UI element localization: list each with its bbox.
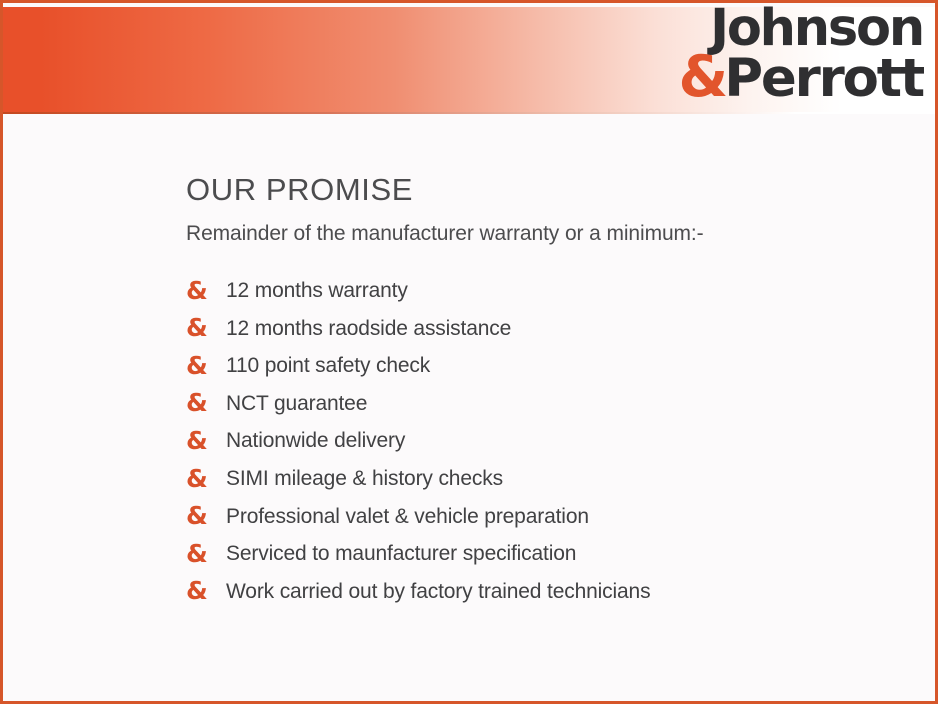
promise-list: & 12 months warranty & 12 months raodsid… xyxy=(186,272,906,610)
logo-text-perrott: Perrott xyxy=(724,48,923,109)
ampersand-bullet-icon: & xyxy=(186,353,226,378)
logo-ampersand-icon: & xyxy=(679,44,725,110)
page-subtitle: Remainder of the manufacturer warranty o… xyxy=(186,221,906,246)
ampersand-bullet-icon: & xyxy=(186,428,226,453)
ampersand-bullet-icon: & xyxy=(186,541,226,566)
list-item: & 110 point safety check xyxy=(186,347,906,385)
list-item: & NCT guarantee xyxy=(186,385,906,423)
ampersand-bullet-icon: & xyxy=(186,578,226,603)
list-item: & Nationwide delivery xyxy=(186,423,906,461)
promise-page: Johnson &Perrott OUR PROMISE Remainder o… xyxy=(0,0,938,704)
johnson-perrott-logo[interactable]: Johnson &Perrott xyxy=(679,7,923,103)
ampersand-bullet-icon: & xyxy=(186,503,226,528)
list-item-label: SIMI mileage & history checks xyxy=(226,467,503,491)
list-item: & SIMI mileage & history checks xyxy=(186,460,906,498)
list-item: & Work carried out by factory trained te… xyxy=(186,573,906,611)
page-title: OUR PROMISE xyxy=(186,173,906,207)
logo-text-perrott-line: &Perrott xyxy=(679,52,923,103)
ampersand-bullet-icon: & xyxy=(186,278,226,303)
list-item-label: NCT guarantee xyxy=(226,392,367,416)
list-item: & Serviced to maunfacturer specification xyxy=(186,535,906,573)
list-item-label: Professional valet & vehicle preparation xyxy=(226,505,589,529)
ampersand-bullet-icon: & xyxy=(186,466,226,491)
list-item-label: 12 months warranty xyxy=(226,279,408,303)
list-item-label: Nationwide delivery xyxy=(226,429,405,453)
list-item-label: Serviced to maunfacturer specification xyxy=(226,542,576,566)
ampersand-bullet-icon: & xyxy=(186,390,226,415)
list-item: & Professional valet & vehicle preparati… xyxy=(186,498,906,536)
header-underline xyxy=(3,112,935,114)
list-item: & 12 months warranty xyxy=(186,272,906,310)
list-item: & 12 months raodside assistance xyxy=(186,310,906,348)
list-item-label: 12 months raodside assistance xyxy=(226,317,511,341)
promise-content: OUR PROMISE Remainder of the manufacture… xyxy=(186,173,906,611)
list-item-label: 110 point safety check xyxy=(226,354,430,378)
list-item-label: Work carried out by factory trained tech… xyxy=(226,580,650,604)
ampersand-bullet-icon: & xyxy=(186,315,226,340)
